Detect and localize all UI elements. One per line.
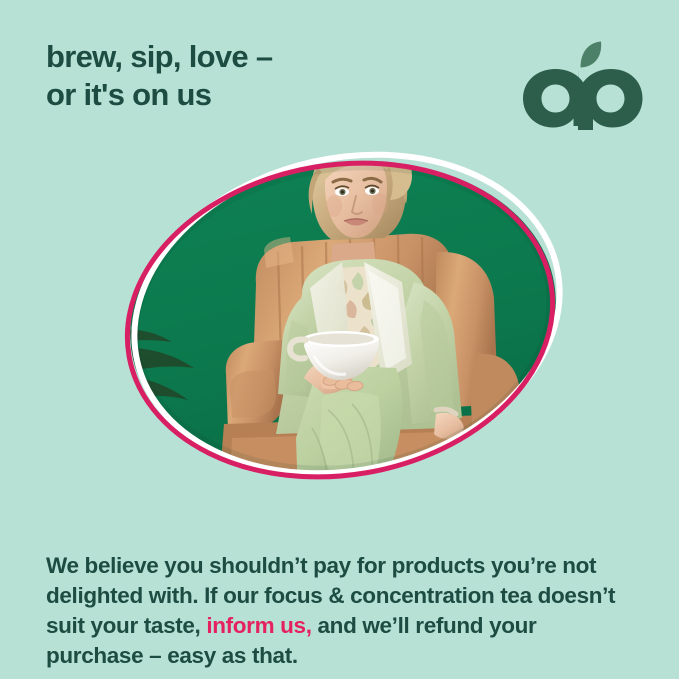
inform-us-link[interactable]: inform us, [206,613,311,638]
logo-letter-p [578,69,643,130]
ad-creative: brew, sip, love – or it's on us [0,0,679,679]
hero-image [106,142,580,498]
body-copy: We believe you shouldn’t pay for product… [46,551,636,672]
leaf-icon [581,42,602,68]
brand-logo [519,38,645,130]
page-title: brew, sip, love – or it's on us [46,38,466,114]
